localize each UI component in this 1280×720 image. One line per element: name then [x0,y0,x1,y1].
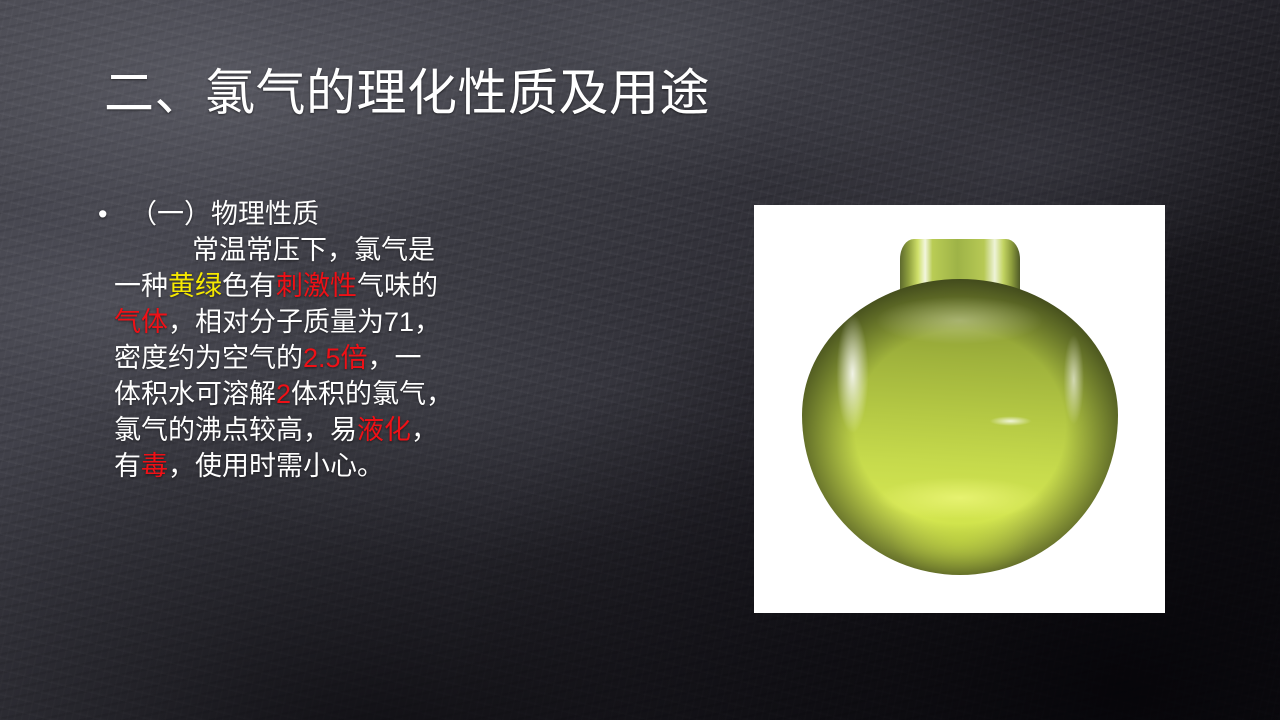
body-text: ，使用时需小心。 [168,451,384,481]
body-text: 常温常压下，氯气是 [192,235,435,265]
flask-illustration [802,239,1118,575]
slide-canvas: 二、氯气的理化性质及用途 • （一）物理性质 常温常压下，氯气是一种黄绿色有刺激… [0,0,1280,720]
body-text: ，一 [368,343,422,373]
chlorine-flask-image [754,205,1165,613]
body-text: 一种 [114,271,168,301]
body-line: 气体，相对分子质量为71， [92,304,612,340]
body-line: 氯气的沸点较高，易液化， [92,412,612,448]
highlighted-text: 2 [276,379,291,409]
bullet-list-item: • （一）物理性质 [92,196,612,232]
page-title: 二、氯气的理化性质及用途 [104,62,864,124]
body-heading: （一）物理性质 [130,199,319,229]
body-text: 气味的 [357,271,438,301]
body-text: 体积的氯气， [291,379,453,409]
body-lines-container: 常温常压下，氯气是一种黄绿色有刺激性气味的气体，相对分子质量为71，密度约为空气… [92,232,612,484]
body-line: 密度约为空气的2.5倍，一 [92,340,612,376]
body-line: 一种黄绿色有刺激性气味的 [92,268,612,304]
highlighted-text: 刺激性 [276,271,357,301]
body-line: 体积水可溶解2体积的氯气， [92,376,612,412]
highlighted-text: 液化 [357,415,411,445]
body-text: 体积水可溶解 [114,379,276,409]
bullet-dot-icon: • [98,196,107,232]
highlighted-text: 气体 [114,307,168,337]
body-text: 有 [114,451,141,481]
body-line: 有毒，使用时需小心。 [92,448,612,484]
flask-bulb [802,279,1118,575]
body-text: 氯气的沸点较高，易 [114,415,357,445]
body-text: 密度约为空气的 [114,343,303,373]
body-text: ，相对分子质量为71， [168,307,441,337]
body-line: 常温常压下，氯气是 [92,232,612,268]
body-text: ， [411,415,438,445]
body-text: 色有 [222,271,276,301]
body-text-block: • （一）物理性质 常温常压下，氯气是一种黄绿色有刺激性气味的气体，相对分子质量… [92,196,612,484]
highlighted-text: 黄绿 [168,271,222,301]
highlighted-text: 2.5倍 [303,343,368,373]
highlighted-text: 毒 [141,451,168,481]
